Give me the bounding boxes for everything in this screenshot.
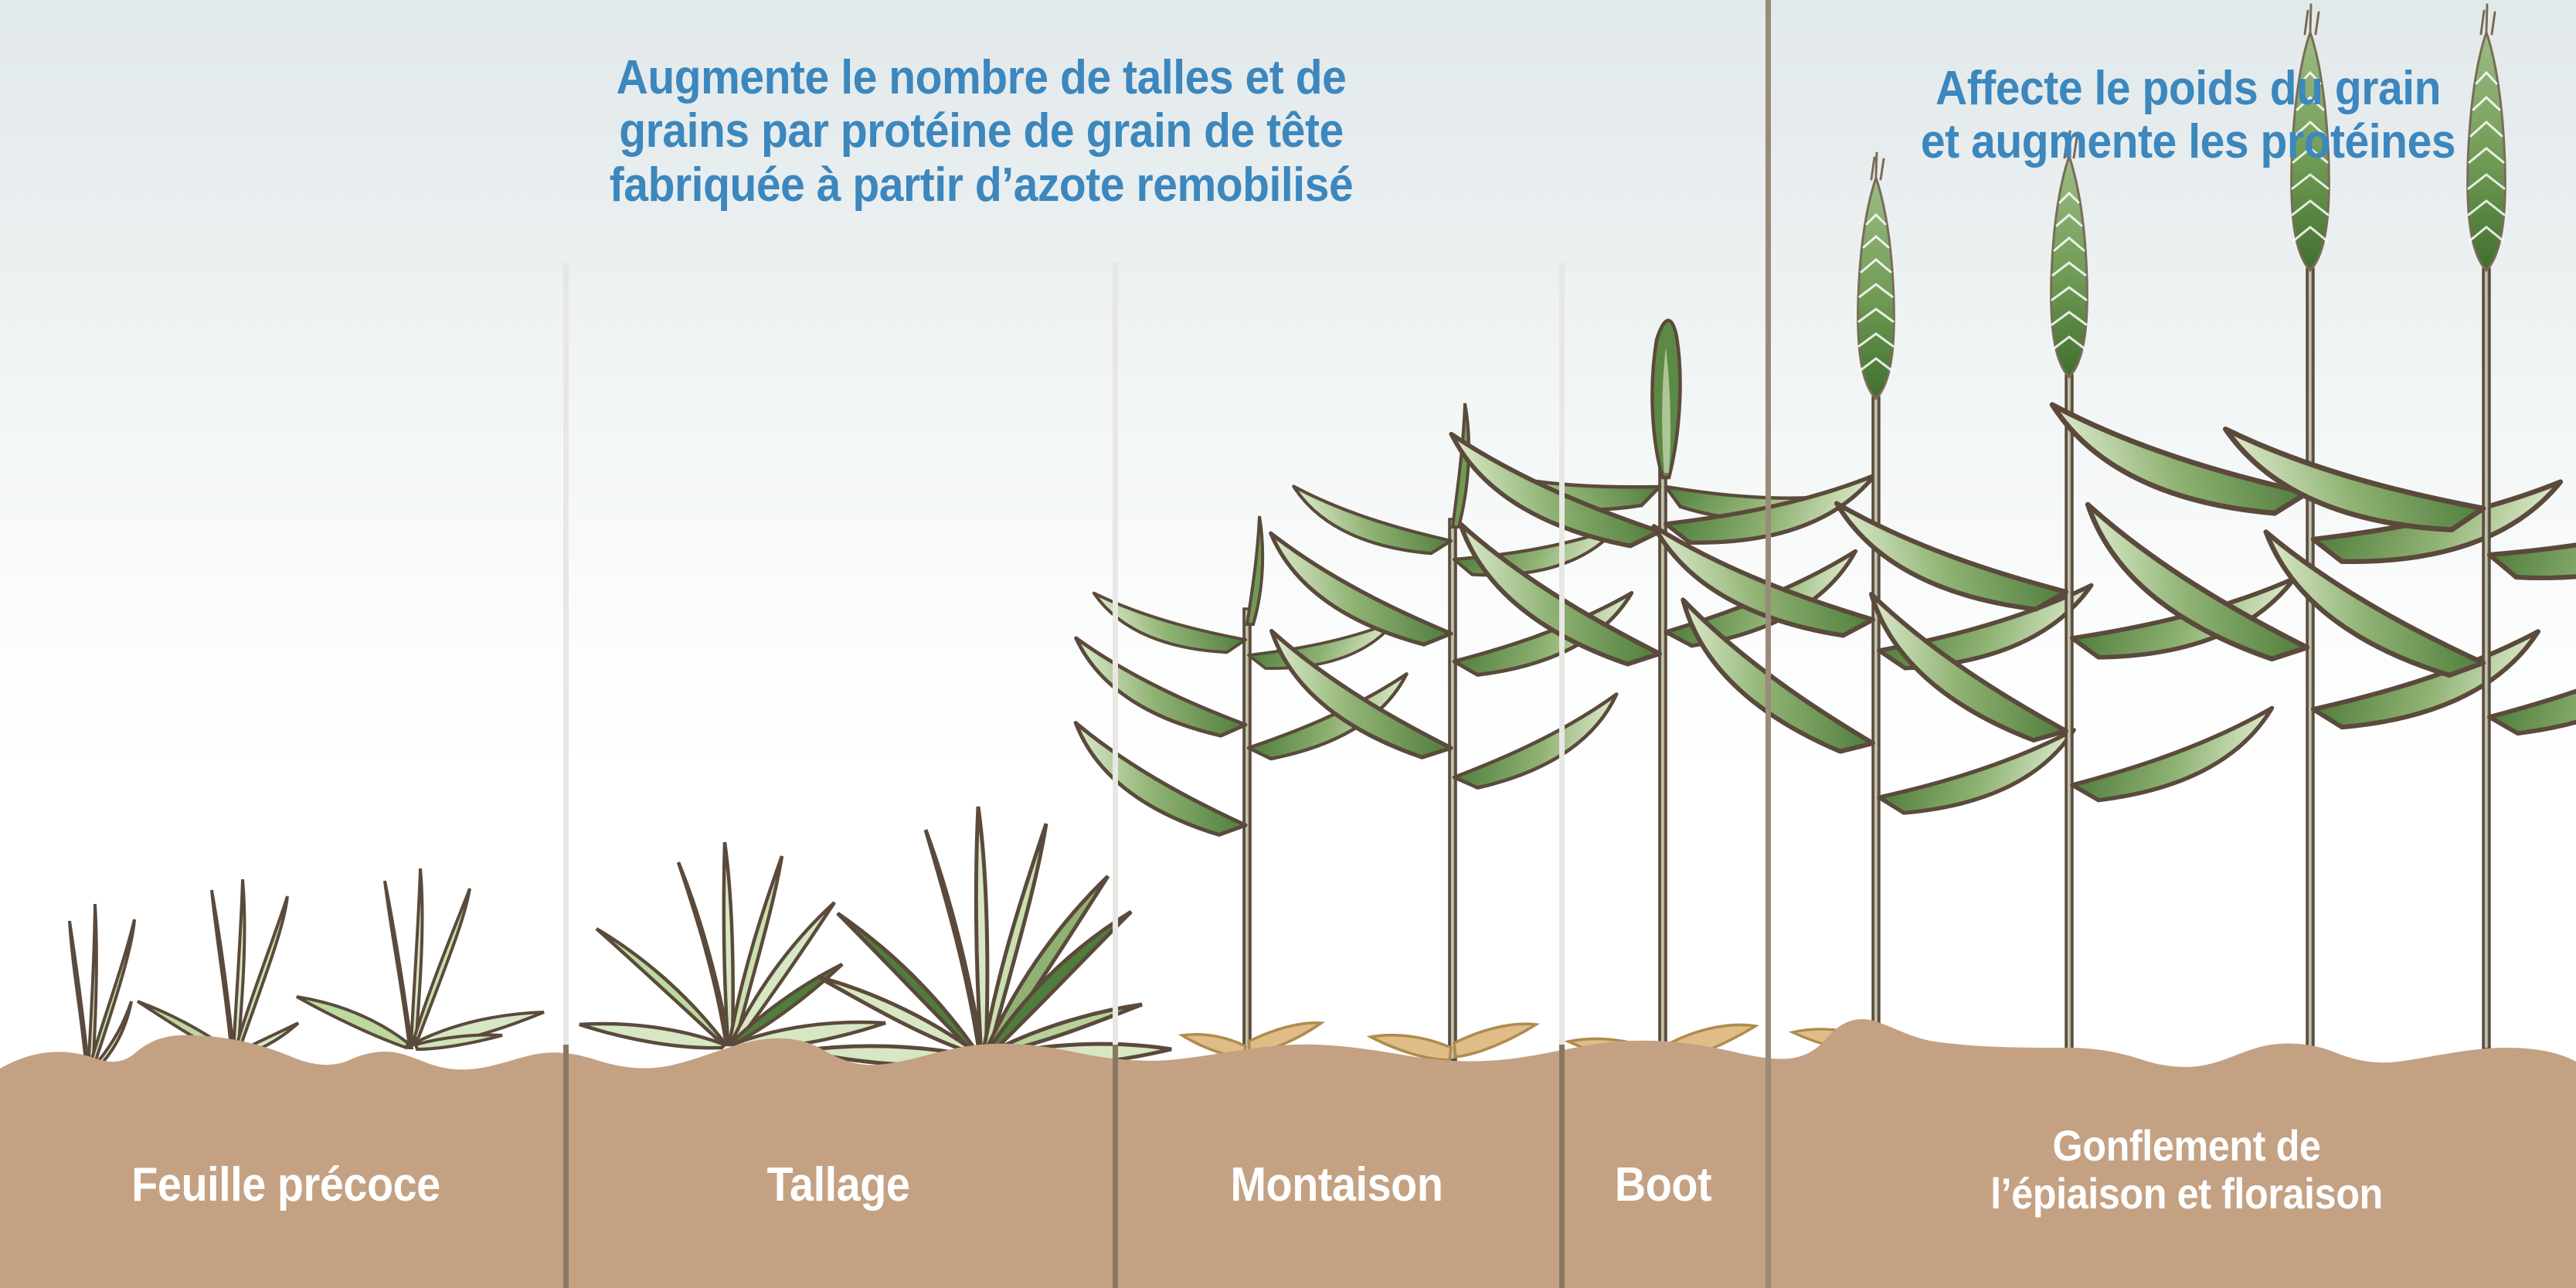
stage-label-gonflement-epiaison-floraison: Gonflement de l’épiaison et floraison [1839, 1122, 2534, 1217]
divider-4 [1765, 0, 1771, 1288]
stage-label-feuille-precoce: Feuille précoce [70, 1159, 501, 1212]
wheat-growth-stage-infographic: Augmente le nombre de talles et de grain… [0, 0, 2576, 1288]
stage-label-montaison: Montaison [1142, 1159, 1531, 1212]
plant-group-tillering [579, 807, 1171, 1065]
heading-left: Augmente le nombre de talles et de grain… [477, 51, 1486, 212]
plant-group-early-leaf [70, 868, 544, 1072]
divider-1 [563, 263, 569, 1045]
stage-label-tallage: Tallage [599, 1159, 1079, 1212]
heading-right: Affecte le poids du grain et augmente le… [1831, 62, 2545, 169]
stage-label-boot: Boot [1575, 1159, 1752, 1212]
divider-3 [1559, 263, 1565, 1045]
plant-group-boot [1451, 321, 1874, 1065]
divider-2 [1113, 263, 1118, 1045]
